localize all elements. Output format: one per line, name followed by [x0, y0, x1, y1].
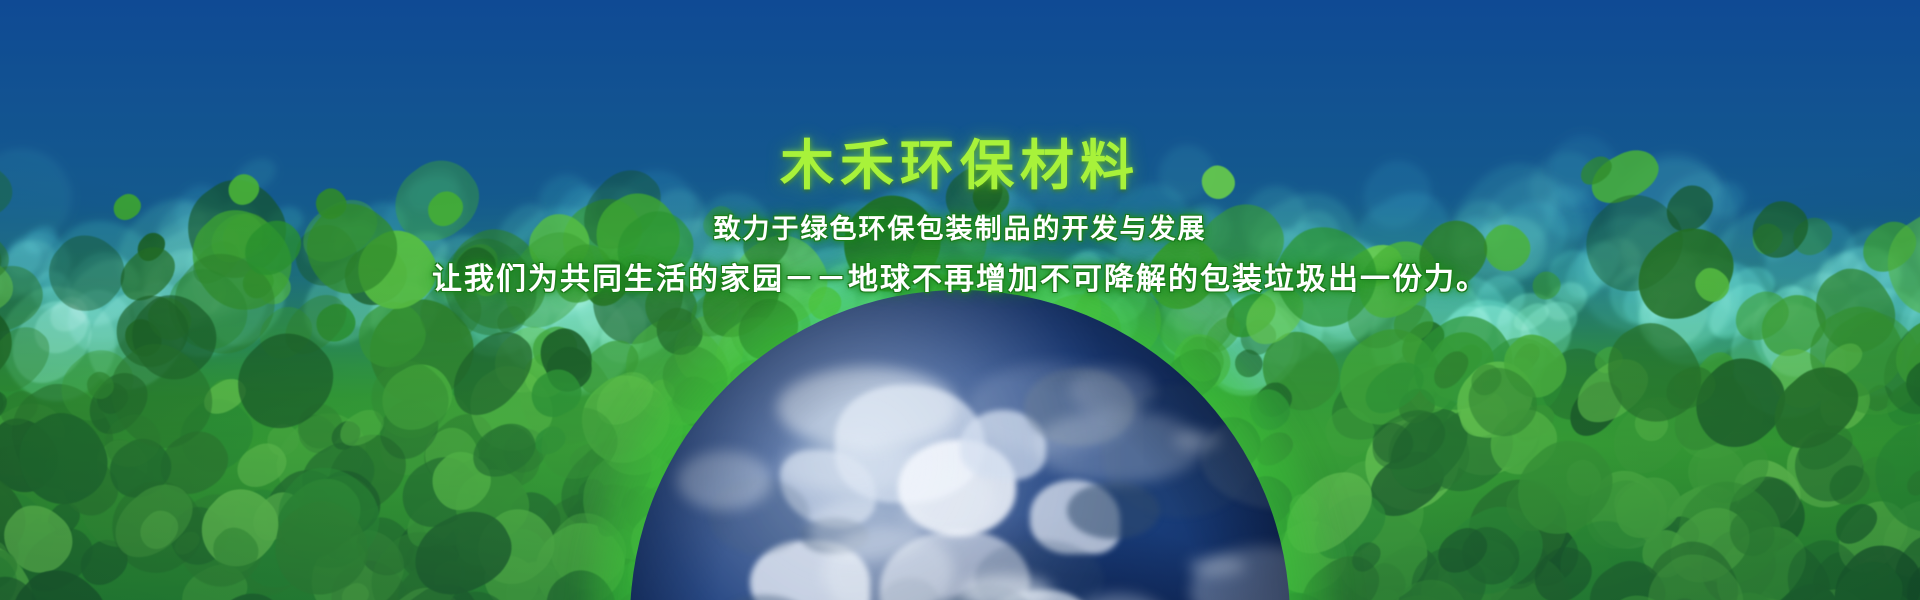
- tagline-secondary: 让我们为共同生活的家园－－地球不再增加不可降解的包装垃圾出一份力。: [0, 254, 1920, 298]
- globe-sphere: [630, 290, 1290, 600]
- tagline-primary: 致力于绿色环保包装制品的开发与发展: [0, 207, 1920, 246]
- eco-packaging-hero-banner: 木禾环保材料 致力于绿色环保包装制品的开发与发展 让我们为共同生活的家园－－地球…: [0, 0, 1920, 600]
- earth-globe: [630, 290, 1290, 600]
- page-title: 木禾环保材料: [0, 138, 1920, 193]
- banner-text-block: 木禾环保材料 致力于绿色环保包装制品的开发与发展 让我们为共同生活的家园－－地球…: [0, 138, 1920, 298]
